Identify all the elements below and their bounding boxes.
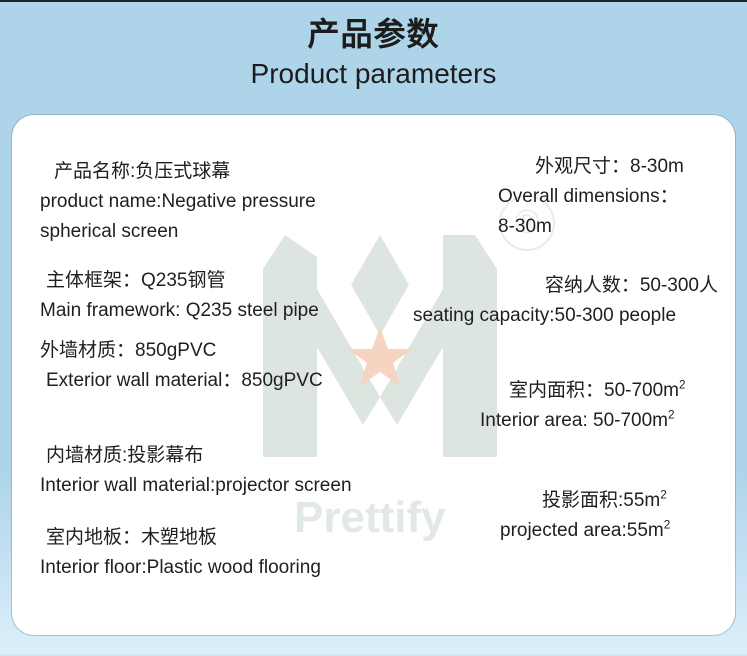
spec-projected-area: 投影面积:55m2 projected area:55m2: [500, 486, 730, 546]
spec-main-framework: 主体框架：Q235钢管 Main framework: Q235 steel p…: [40, 266, 420, 326]
spec-product-name-cn: 产品名称:负压式球幕: [40, 157, 400, 187]
top-divider: [0, 0, 747, 2]
spec-overall-dimensions: 外观尺寸：8-30m Overall dimensions： 8-30m: [498, 152, 730, 242]
spec-product-name: 产品名称:负压式球幕 product name:Negative pressur…: [40, 157, 400, 247]
page-title-en: Product parameters: [0, 56, 747, 92]
spec-interior-area-en: Interior area: 50-700m2: [472, 406, 730, 436]
spec-interior-area-en-text: Interior area: 50-700m: [480, 410, 668, 431]
spec-interior-wall-material-cn: 内墙材质:投影幕布: [40, 441, 440, 471]
spec-interior-wall-material: 内墙材质:投影幕布 Interior wall material:project…: [40, 441, 440, 501]
parameters-card: Prettify ® 产品名称:负压式球幕 product name:Negat…: [12, 115, 735, 635]
spec-interior-area-cn: 室内面积：50-700m2: [472, 376, 730, 406]
page-header: 产品参数 Product parameters: [0, 14, 747, 92]
spec-seating-capacity: 容纳人数：50-300人 seating capacity:50-300 peo…: [398, 271, 730, 331]
spec-interior-floor-cn: 室内地板：木塑地板: [40, 523, 440, 553]
spec-main-framework-en: Main framework: Q235 steel pipe: [40, 296, 420, 326]
spec-product-name-en-line1: product name:Negative pressure: [40, 187, 400, 217]
product-parameters-page: 产品参数 Product parameters Prettify ® 产品名称:…: [0, 0, 747, 656]
spec-interior-area-en-superscript: 2: [668, 409, 675, 422]
spec-overall-dimensions-cn: 外观尺寸：8-30m: [498, 152, 730, 182]
spec-interior-area: 室内面积：50-700m2 Interior area: 50-700m2: [472, 376, 730, 436]
spec-overall-dimensions-en-line1: Overall dimensions：: [498, 182, 730, 212]
spec-main-framework-cn: 主体框架：Q235钢管: [40, 266, 420, 296]
spec-overall-dimensions-en-line2: 8-30m: [498, 212, 730, 242]
spec-seating-capacity-cn: 容纳人数：50-300人: [398, 271, 730, 301]
spec-product-name-en-line2: spherical screen: [40, 217, 400, 247]
spec-exterior-wall-material-en: Exterior wall material：850gPVC: [40, 366, 420, 396]
spec-projected-area-en-superscript: 2: [664, 519, 671, 532]
spec-projected-area-cn-text: 投影面积:55m: [542, 490, 660, 511]
spec-interior-wall-material-en: Interior wall material:projector screen: [40, 471, 440, 501]
page-title-cn: 产品参数: [0, 14, 747, 54]
spec-projected-area-cn-superscript: 2: [660, 489, 667, 502]
spec-interior-area-cn-superscript: 2: [679, 379, 686, 392]
spec-interior-area-cn-text: 室内面积：50-700m: [509, 380, 679, 401]
spec-projected-area-cn: 投影面积:55m2: [500, 486, 730, 516]
spec-projected-area-en-text: projected area:55m: [500, 520, 664, 541]
spec-interior-floor: 室内地板：木塑地板 Interior floor:Plastic wood fl…: [40, 523, 440, 583]
spec-seating-capacity-en: seating capacity:50-300 people: [398, 301, 730, 331]
spec-exterior-wall-material: 外墙材质：850gPVC Exterior wall material：850g…: [40, 336, 420, 396]
spec-interior-floor-en: Interior floor:Plastic wood flooring: [40, 553, 440, 583]
spec-projected-area-en: projected area:55m2: [500, 516, 730, 546]
spec-exterior-wall-material-cn: 外墙材质：850gPVC: [40, 336, 420, 366]
